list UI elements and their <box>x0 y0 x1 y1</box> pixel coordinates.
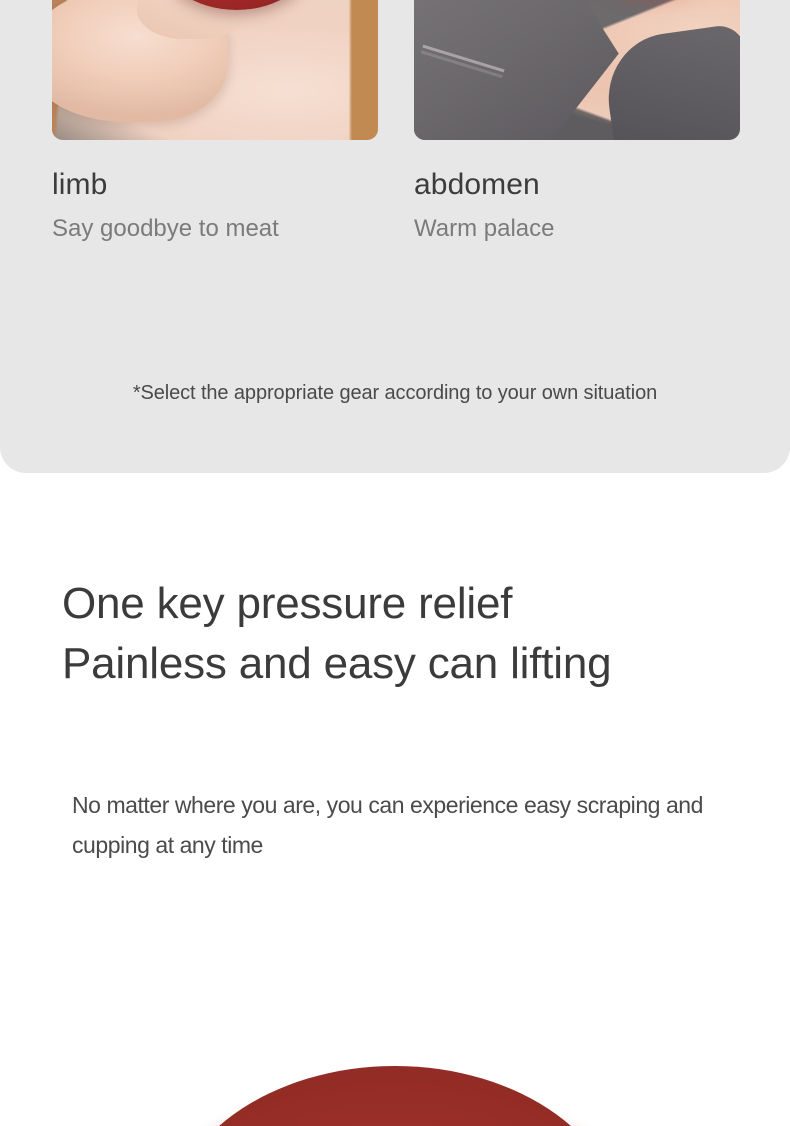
usage-card-abdomen[interactable]: abdomen Warm palace <box>414 0 740 243</box>
glowing-red-device-on-abdomen-image <box>414 0 740 140</box>
usage-card-title: limb <box>52 168 378 201</box>
usage-card-photo-abdomen <box>414 0 740 140</box>
red-cupping-device <box>167 1066 623 1126</box>
usage-card-title: abdomen <box>414 168 740 201</box>
legging-fabric-lower-shape <box>600 23 740 140</box>
usage-card-photo-limb <box>52 0 378 140</box>
feature-headline: One key pressure relief Painless and eas… <box>62 574 611 694</box>
feature-body-text: No matter where you are, you can experie… <box>72 786 722 866</box>
usage-card-subtitle: Warm palace <box>414 215 740 243</box>
usage-card-subtitle: Say goodbye to meat <box>52 215 378 243</box>
feature-headline-line2: Painless and easy can lifting <box>62 634 611 694</box>
feature-headline-line1: One key pressure relief <box>62 579 512 628</box>
hand-holding-red-cupping-device-on-leg-image <box>52 0 378 140</box>
usage-areas-card-list: limb Say goodbye to meat abdomen Warm pa… <box>0 0 790 243</box>
product-detail-page: limb Say goodbye to meat abdomen Warm pa… <box>0 0 790 1126</box>
gear-selection-note: *Select the appropriate gear according t… <box>0 382 790 405</box>
usage-card-limb[interactable]: limb Say goodbye to meat <box>52 0 378 243</box>
